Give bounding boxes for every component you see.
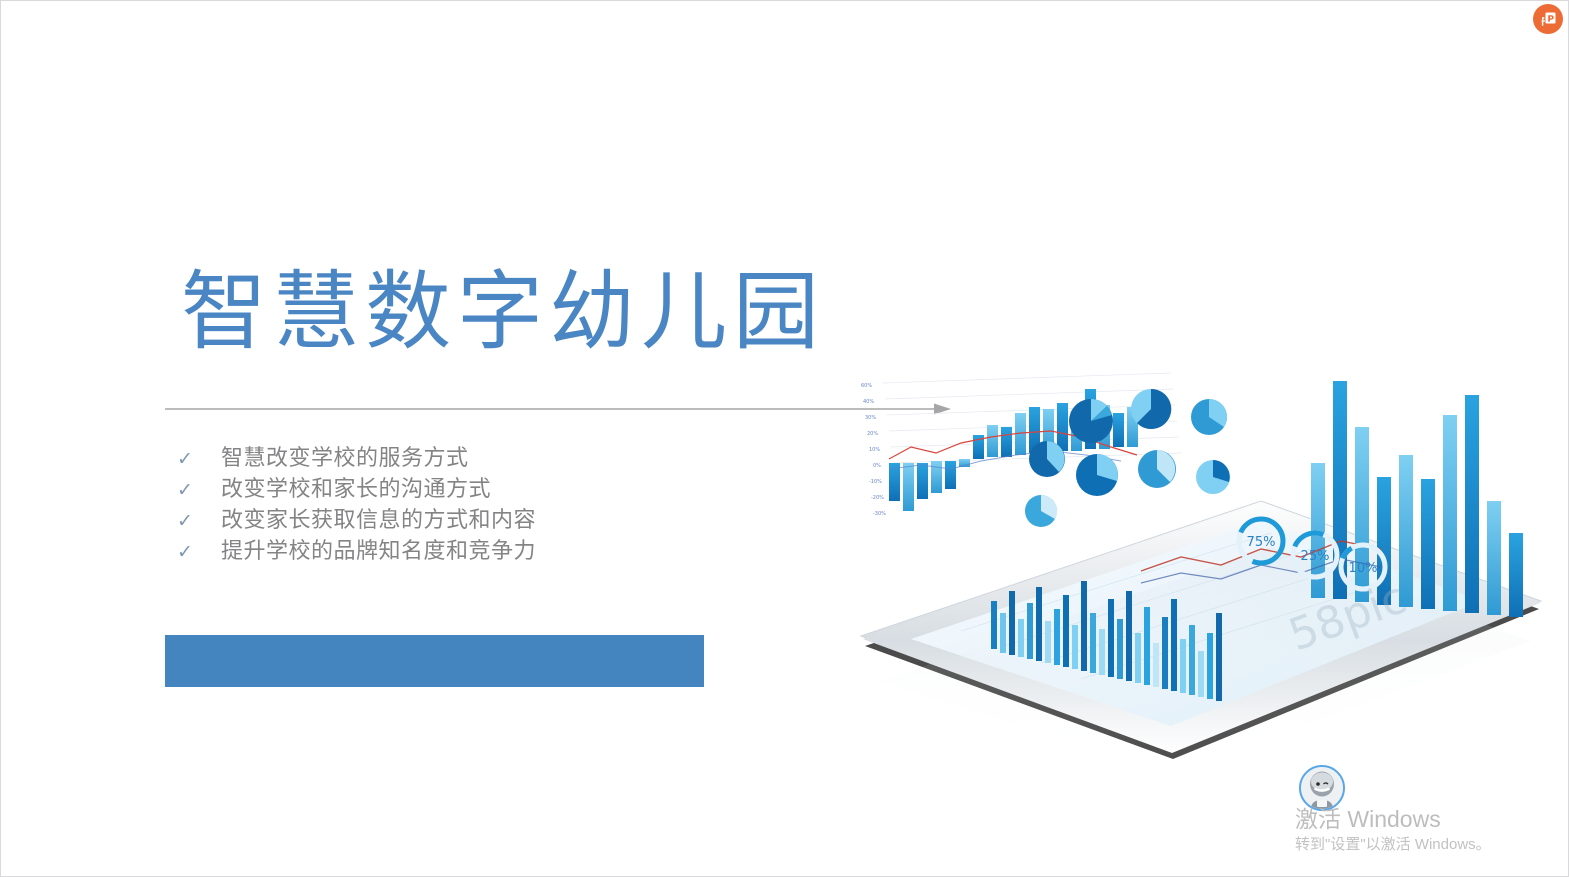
arrow-svg	[165, 401, 951, 417]
svg-text:40%: 40%	[863, 399, 874, 405]
svg-text:10%: 10%	[869, 447, 880, 453]
windows-activation-watermark: 激活 Windows 转到"设置"以激活 Windows。	[1295, 805, 1563, 856]
bullet-list: ✓ 智慧改变学校的服务方式 ✓ 改变学校和家长的沟通方式 ✓ 改变家长获取信息的…	[177, 443, 697, 567]
powerpoint-icon[interactable]	[1533, 4, 1563, 34]
list-item: ✓ 智慧改变学校的服务方式	[177, 443, 697, 474]
gauge-label: 75%	[1247, 535, 1276, 550]
list-item: ✓ 改变家长获取信息的方式和内容	[177, 505, 697, 536]
svg-text:60%: 60%	[861, 383, 872, 389]
gauge-label: 10%	[1349, 561, 1378, 576]
right-arrow-line-icon	[165, 401, 951, 417]
gauge-label: 25%	[1301, 549, 1330, 564]
tablet-analytics-illustration: 60% 40% 30% 20% 10% 0% -10% -20% -30%	[841, 351, 1569, 771]
check-icon: ✓	[177, 444, 221, 475]
list-item-label: 提升学校的品牌知名度和竞争力	[221, 536, 536, 567]
svg-text:-20%: -20%	[871, 495, 884, 501]
svg-text:0%: 0%	[873, 463, 881, 469]
list-item: ✓ 改变学校和家长的沟通方式	[177, 474, 697, 505]
assistant-face	[1301, 767, 1343, 809]
page-title: 智慧数字幼儿园	[181, 269, 825, 355]
axis-tick-labels: 60% 40% 30% 20% 10% 0% -10% -20% -30%	[861, 383, 886, 517]
svg-text:-30%: -30%	[873, 511, 886, 517]
powerpoint-glyph	[1540, 11, 1557, 28]
check-icon: ✓	[177, 537, 221, 568]
accent-bar	[165, 635, 704, 687]
check-icon: ✓	[177, 506, 221, 537]
list-item: ✓ 提升学校的品牌知名度和竞争力	[177, 536, 697, 567]
tablet-body	[861, 501, 1541, 771]
list-item-label: 改变学校和家长的沟通方式	[221, 474, 491, 505]
activation-subtitle: 转到"设置"以激活 Windows。	[1295, 834, 1563, 856]
slide-canvas: 智慧数字幼儿园 ✓ 智慧改变学校的服务方式 ✓ 改变学校和家长的沟通方式 ✓ 改…	[0, 0, 1569, 877]
svg-text:30%: 30%	[865, 415, 876, 421]
svg-text:20%: 20%	[867, 431, 878, 437]
svg-text:-10%: -10%	[869, 479, 882, 485]
artwork-svg: 60% 40% 30% 20% 10% 0% -10% -20% -30%	[841, 351, 1569, 771]
check-icon: ✓	[177, 475, 221, 506]
activation-title: 激活 Windows	[1295, 805, 1563, 834]
list-item-label: 智慧改变学校的服务方式	[221, 443, 469, 474]
list-item-label: 改变家长获取信息的方式和内容	[221, 505, 536, 536]
